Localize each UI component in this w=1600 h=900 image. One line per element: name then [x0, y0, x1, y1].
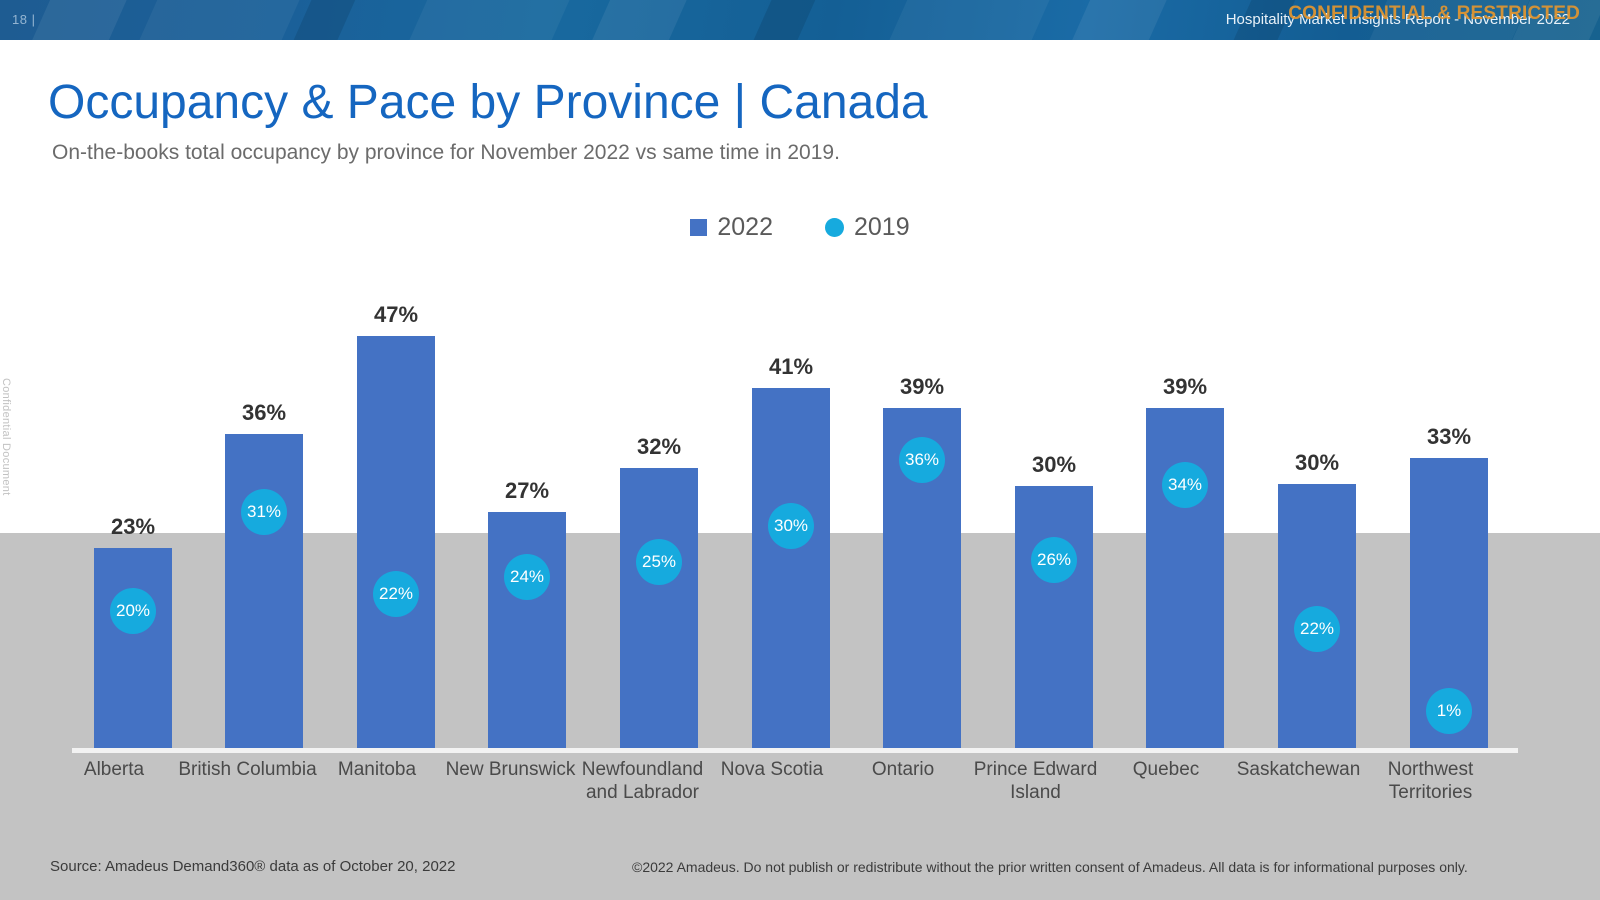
- bar-column-british-columbia[interactable]: 36% 31%: [225, 250, 303, 810]
- bubble-2019[interactable]: 24%: [504, 554, 550, 600]
- bar-column-ontario[interactable]: 39% 36%: [883, 250, 961, 810]
- bar-value-label: 36%: [242, 400, 286, 426]
- bar-2022[interactable]: [620, 468, 698, 748]
- bar-2022[interactable]: [488, 512, 566, 748]
- legend-label: 2022: [717, 213, 773, 242]
- copyright-note: ©2022 Amadeus. Do not publish or redistr…: [632, 859, 1468, 875]
- bar-2022[interactable]: [357, 336, 435, 748]
- circle-marker-icon: [825, 218, 844, 237]
- page-number: 18 |: [12, 12, 35, 27]
- bar-column-newfoundland-and-labrador[interactable]: 32% 25%: [620, 250, 698, 810]
- banner-streak: [566, 0, 703, 40]
- banner-streak: [725, 0, 835, 40]
- bar-column-alberta[interactable]: 23% 20%: [94, 250, 172, 810]
- bar-group: 23% 20% 36% 31% 47% 22% 27% 24%: [72, 250, 1528, 810]
- square-marker-icon: [690, 219, 707, 236]
- bar-column-northwest-territories[interactable]: 33% 1%: [1410, 250, 1488, 810]
- bubble-2019[interactable]: 30%: [768, 503, 814, 549]
- source-note: Source: Amadeus Demand360® data as of Oc…: [50, 858, 455, 875]
- bar-value-label: 27%: [505, 478, 549, 504]
- banner-streak: [119, 0, 311, 40]
- x-axis-label-line: Territories: [1328, 781, 1533, 804]
- bubble-2019[interactable]: 22%: [373, 571, 419, 617]
- x-axis-label-northwest-territories: Northwest Territories: [1328, 758, 1533, 804]
- bar-2022[interactable]: [1146, 408, 1224, 748]
- bubble-2019[interactable]: 20%: [110, 588, 156, 634]
- bubble-2019[interactable]: 26%: [1031, 537, 1077, 583]
- bubble-2019[interactable]: 34%: [1162, 462, 1208, 508]
- bar-value-label: 33%: [1427, 424, 1471, 450]
- bubble-2019[interactable]: 36%: [899, 437, 945, 483]
- bar-2022[interactable]: [752, 388, 830, 748]
- bar-column-quebec[interactable]: 39% 34%: [1146, 250, 1224, 810]
- bar-value-label: 39%: [1163, 374, 1207, 400]
- page-title: Occupancy & Pace by Province | Canada: [48, 75, 928, 130]
- x-axis-line: [72, 748, 1518, 753]
- bar-2022[interactable]: [225, 434, 303, 748]
- bar-value-label: 23%: [111, 514, 155, 540]
- bubble-2019[interactable]: 25%: [636, 539, 682, 585]
- legend-item-2019[interactable]: 2019: [825, 213, 910, 242]
- x-axis-label-line: and Labrador: [540, 781, 745, 804]
- legend-item-2022[interactable]: 2022: [690, 213, 773, 242]
- chart-legend: 2022 2019: [0, 213, 1600, 242]
- bubble-2019[interactable]: 22%: [1294, 606, 1340, 652]
- banner-streak: [869, 0, 1061, 40]
- page-subtitle: On-the-books total occupancy by province…: [52, 141, 840, 165]
- bar-value-label: 41%: [769, 354, 813, 380]
- bubble-2019[interactable]: 31%: [241, 489, 287, 535]
- bar-value-label: 39%: [900, 374, 944, 400]
- bar-column-manitoba[interactable]: 47% 22%: [357, 250, 435, 810]
- banner-streak: [1046, 0, 1183, 40]
- bar-value-label: 47%: [374, 302, 418, 328]
- bar-column-saskatchewan[interactable]: 30% 22%: [1278, 250, 1356, 810]
- chart-plot-area: 23% 20% 36% 31% 47% 22% 27% 24%: [0, 250, 1600, 810]
- bar-2022[interactable]: [1015, 486, 1093, 748]
- bar-column-prince-edward-island[interactable]: 30% 26%: [1015, 250, 1093, 810]
- x-axis-label-line: Northwest: [1328, 758, 1533, 781]
- legend-label: 2019: [854, 213, 910, 242]
- bar-column-new-brunswick[interactable]: 27% 24%: [488, 250, 566, 810]
- classification-label: CONFIDENTIAL & RESTRICTED: [1288, 3, 1580, 25]
- x-axis-label-line: Island: [933, 781, 1138, 804]
- top-banner: 18 | Hospitality Market Insights Report …: [0, 0, 1600, 40]
- bar-2022[interactable]: [94, 548, 172, 748]
- banner-streak: [389, 0, 581, 40]
- bar-value-label: 32%: [637, 434, 681, 460]
- bar-value-label: 30%: [1032, 452, 1076, 478]
- slide-canvas: 18 | Hospitality Market Insights Report …: [0, 0, 1600, 900]
- bar-column-nova-scotia[interactable]: 41% 30%: [752, 250, 830, 810]
- bar-value-label: 30%: [1295, 450, 1339, 476]
- bubble-2019[interactable]: 1%: [1426, 688, 1472, 734]
